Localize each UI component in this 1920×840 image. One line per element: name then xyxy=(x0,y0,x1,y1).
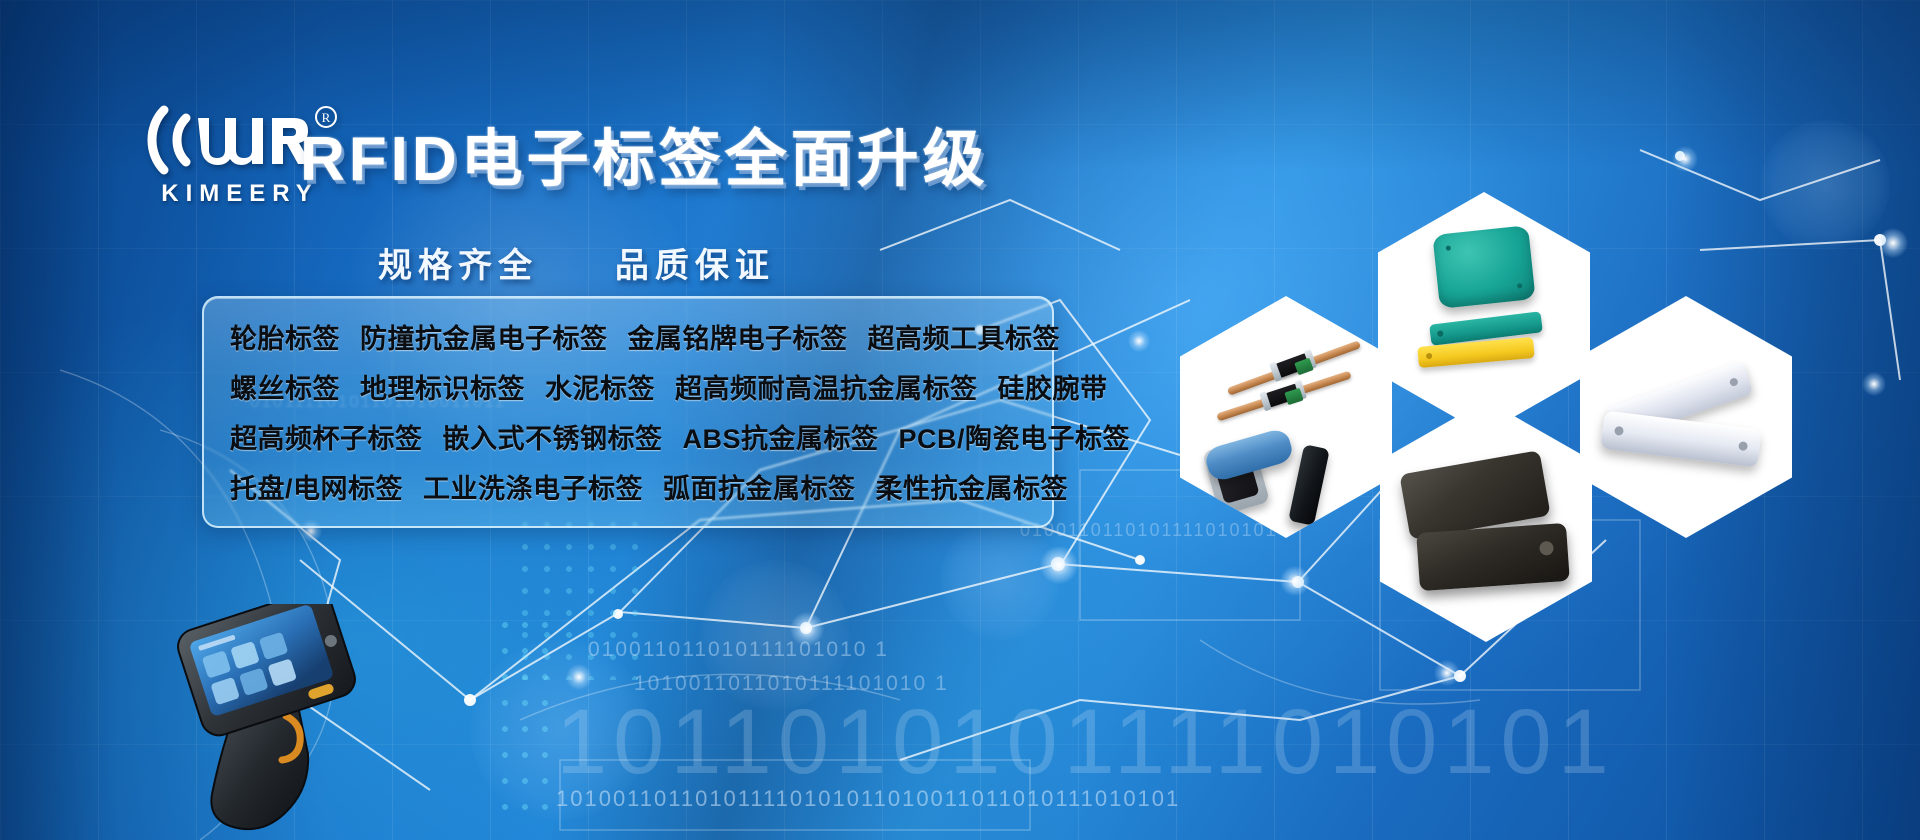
light-flare xyxy=(1862,372,1886,396)
tag-row: 托盘/电网标签 工业洗涤电子标签 弧面抗金属标签 柔性抗金属标签 xyxy=(230,461,1026,511)
tag-row: 超高频杯子标签 嵌入式不锈钢标签 ABS抗金属标签 PCB/陶瓷电子标签 xyxy=(230,411,1026,461)
tag-item: PCB/陶瓷电子标签 xyxy=(899,417,1131,456)
tag-item: 工业洗涤电子标签 xyxy=(423,467,643,506)
tag-item: 超高频耐高温抗金属标签 xyxy=(675,367,978,406)
tag-row: 螺丝标签 地理标识标签 水泥标签 超高频耐高温抗金属标签 硅胶腕带 xyxy=(230,361,1026,411)
product-hexagon-abs-tags xyxy=(1378,192,1590,434)
circuit-dots-decoration xyxy=(500,620,560,820)
light-flare xyxy=(1434,660,1460,686)
tag-item: 柔性抗金属标签 xyxy=(876,467,1069,506)
binary-text-line: 1010011011010111101010 1 xyxy=(634,672,949,696)
binary-text-line: 0100110110101111010101 xyxy=(1020,520,1278,541)
tag-item: ABS抗金属标签 xyxy=(683,417,879,456)
black-anti-metal-tag-image xyxy=(1416,523,1570,591)
light-flare xyxy=(790,612,824,646)
white-pcb-tag-image xyxy=(1600,411,1761,468)
rfid-promo-banner: 1011010101111010101 01001101101011110101… xyxy=(0,0,1920,840)
tag-item: 螺丝标签 xyxy=(230,367,340,406)
binary-text-line: 010011011010111101010 1 xyxy=(588,638,889,662)
light-flare xyxy=(1672,146,1698,172)
light-flare xyxy=(1128,330,1150,352)
tag-item: 嵌入式不锈钢标签 xyxy=(443,417,663,456)
tag-item: 防撞抗金属电子标签 xyxy=(360,317,608,356)
tag-item: 地理标识标签 xyxy=(360,367,525,406)
tag-item: 水泥标签 xyxy=(545,367,655,406)
tag-item: 托盘/电网标签 xyxy=(230,467,403,506)
product-hexagon-ceramic-tags xyxy=(1380,400,1592,642)
tag-row: 轮胎标签 防撞抗金属电子标签 金属铭牌电子标签 超高频工具标签 xyxy=(230,311,1026,361)
handheld-rfid-reader-image xyxy=(168,604,418,840)
hero-headline: RFID电子标签全面升级 xyxy=(300,108,989,198)
binary-text-line: 1010011011010111101010110100110110101110… xyxy=(556,786,1180,812)
tag-item: 金属铭牌电子标签 xyxy=(628,317,848,356)
binary-text-large: 1011010101111010101 xyxy=(556,690,1615,795)
light-flare xyxy=(1280,566,1310,596)
teal-disc-tag-image xyxy=(1432,225,1535,309)
light-flare xyxy=(1040,546,1078,584)
black-bar-tag-image xyxy=(1288,444,1330,526)
circuit-dots-decoration xyxy=(520,520,650,680)
hero-subtitle: 规格齐全 品质保证 xyxy=(378,238,775,287)
tag-item: 轮胎标签 xyxy=(230,317,340,356)
bokeh-circle xyxy=(470,640,650,820)
subtitle-left: 规格齐全 xyxy=(378,247,538,285)
tag-item: 超高频工具标签 xyxy=(868,317,1061,356)
tag-item: 超高频杯子标签 xyxy=(230,417,423,456)
product-tag-list-panel: 轮胎标签 防撞抗金属电子标签 金属铭牌电子标签 超高频工具标签 螺丝标签 地理标… xyxy=(202,296,1054,528)
light-flare xyxy=(1878,228,1908,258)
bokeh-circle xyxy=(700,560,850,710)
bokeh-circle xyxy=(1760,120,1890,250)
light-flare xyxy=(566,664,592,690)
product-hexagon-pcb-tags xyxy=(1580,296,1792,538)
product-hexagon-screw-tags xyxy=(1180,296,1392,538)
tag-item: 硅胶腕带 xyxy=(998,367,1108,406)
bokeh-circle xyxy=(940,520,1060,640)
tag-item: 弧面抗金属标签 xyxy=(663,467,856,506)
subtitle-right: 品质保证 xyxy=(615,247,775,285)
